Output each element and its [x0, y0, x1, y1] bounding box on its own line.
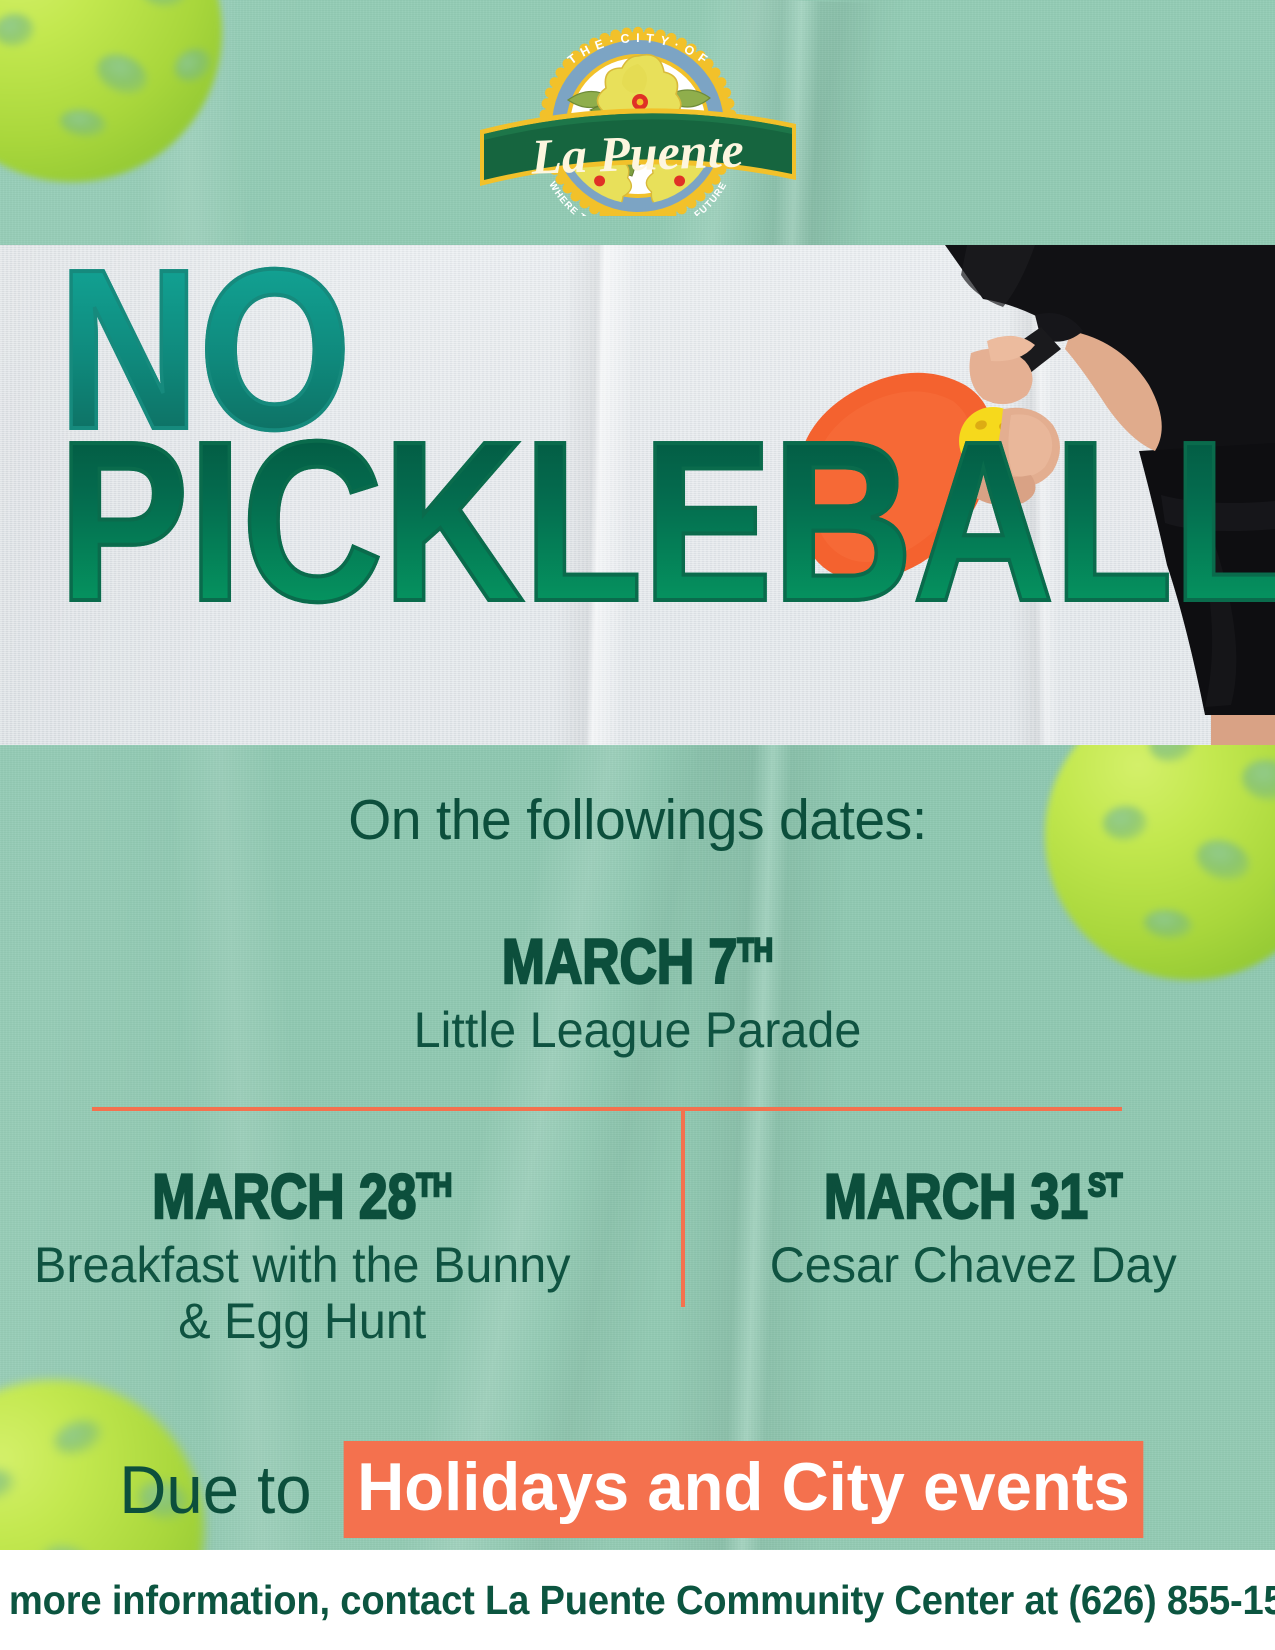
date-block-march-7: MARCH 7TH Little League Parade — [0, 931, 1275, 1058]
reason-prefix: Due to — [119, 1451, 323, 1529]
hero-banner: NO PICKLEBALL — [0, 245, 1275, 745]
date-block-march-31: MARCH 31ST Cesar Chavez Day — [645, 1166, 1275, 1349]
intro-text: On the followings dates: — [19, 787, 1256, 853]
date-ordinal: ST — [1088, 1166, 1122, 1203]
date-label: MARCH 7 — [502, 927, 737, 997]
flyer-body: On the followings dates: MARCH 7TH Littl… — [0, 745, 1275, 1538]
date-event-march-28: Breakfast with the Bunny & Egg Hunt — [9, 1237, 595, 1349]
date-event-line-1: Breakfast with the Bunny — [9, 1237, 595, 1293]
date-block-march-28: MARCH 28TH Breakfast with the Bunny & Eg… — [0, 1166, 645, 1349]
date-ordinal: TH — [737, 931, 773, 968]
date-heading-march-31: MARCH 31ST — [725, 1166, 1221, 1229]
player-leg — [1211, 715, 1275, 745]
city-seal-logo: T H E · C I T Y · O F WHERE THE PAST MEE… — [458, 18, 818, 216]
divider-horizontal — [92, 1107, 1122, 1111]
date-heading-march-7: MARCH 7TH — [115, 931, 1161, 994]
date-label: MARCH 28 — [152, 1162, 416, 1232]
pickleball-cancellation-flyer: T H E · C I T Y · O F WHERE THE PAST MEE… — [0, 0, 1275, 1650]
seal-city-name: La Puente — [529, 121, 744, 184]
hero-headline: NO PICKLEBALL — [58, 259, 1275, 614]
la-puente-city-seal-icon: T H E · C I T Y · O F WHERE THE PAST MEE… — [458, 18, 818, 216]
date-heading-march-28: MARCH 28TH — [54, 1166, 550, 1229]
date-ordinal: TH — [416, 1166, 452, 1203]
date-event-march-7: Little League Parade — [19, 1002, 1256, 1058]
headline-line-pickleball: PICKLEBALL — [58, 431, 1275, 613]
date-event-march-31: Cesar Chavez Day — [680, 1237, 1266, 1293]
date-columns: MARCH 28TH Breakfast with the Bunny & Eg… — [0, 1166, 1275, 1349]
date-event-line-2: & Egg Hunt — [9, 1293, 595, 1349]
footer-contact-text: For more information, contact La Puente … — [0, 1577, 1275, 1624]
reason-line: Due to Holidays and City events — [0, 1441, 1275, 1538]
reason-highlight: Holidays and City events — [344, 1441, 1144, 1538]
date-label: MARCH 31 — [824, 1162, 1088, 1232]
footer-bar: For more information, contact La Puente … — [0, 1550, 1275, 1650]
